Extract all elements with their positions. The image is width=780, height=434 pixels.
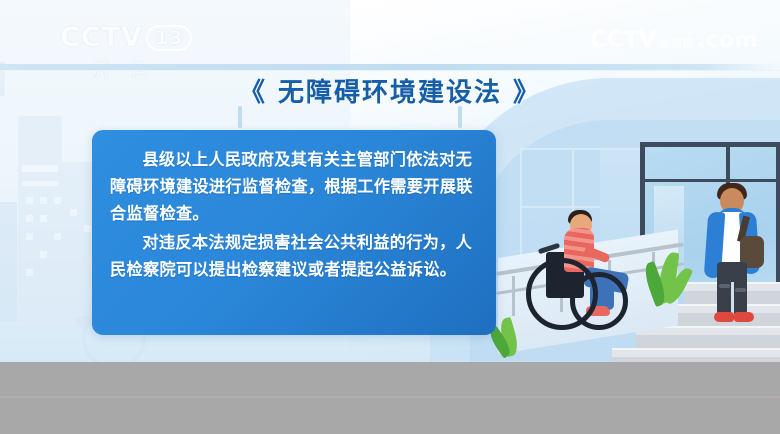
- cctv-com-watermark: CCTV 央视网 .com: [590, 28, 758, 53]
- title-tick-right: [458, 106, 462, 128]
- law-paragraph-2: 对违反本法规定损害社会公共利益的行为，人民检察院可以提出检察建议或者提起公益诉讼…: [110, 229, 478, 283]
- person-with-backpack: [700, 188, 770, 338]
- railing-post: [512, 276, 515, 316]
- law-paragraph-1: 县级以上人民政府及其有关主管部门依法对无障碍环境建设进行监督检查，根据工作需要开…: [110, 146, 478, 227]
- site-watermark-text: CCTV: [590, 28, 656, 53]
- page-title: 《 无障碍环境建设法 》: [0, 72, 780, 109]
- site-watermark-cn: 央视网: [659, 35, 695, 51]
- video-frame[interactable]: CCTV 13 新 闻 CCTV 央视网 .com 《 无障碍环境建设法 》 县…: [0, 0, 780, 362]
- cctv-logo-text: CCTV: [60, 22, 143, 53]
- person-in-wheelchair: [522, 222, 642, 340]
- video-player-screen: CCTV 13 新 闻 CCTV 央视网 .com 《 无障碍环境建设法 》 县…: [0, 0, 780, 434]
- title-tick-left: [238, 106, 242, 128]
- channel-number-badge: 13: [146, 25, 192, 51]
- player-control-bar[interactable]: 焦点访谈 倍速: [0, 362, 780, 434]
- header-divider-hairline: [0, 70, 780, 71]
- progress-bar-track[interactable]: [0, 396, 780, 398]
- site-watermark-suffix: .com: [697, 28, 758, 53]
- law-text-card: 县级以上人民政府及其有关主管部门依法对无障碍环境建设进行监督检查，根据工作需要开…: [92, 130, 496, 335]
